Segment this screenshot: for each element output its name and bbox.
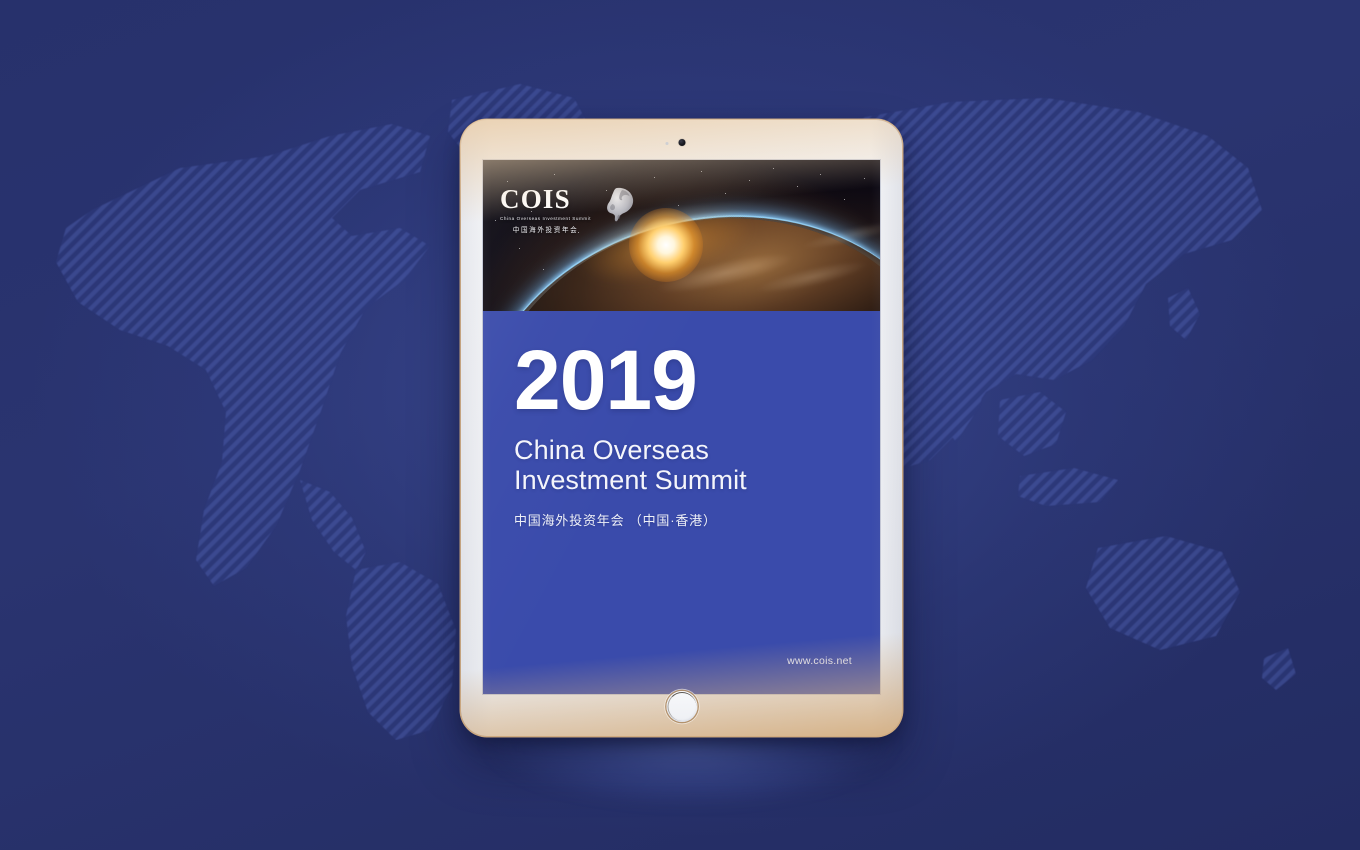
home-button[interactable]: [666, 691, 697, 722]
summit-title: China Overseas Investment Summit: [514, 435, 850, 496]
summit-title-line2: Investment Summit: [514, 465, 850, 496]
tablet-screen[interactable]: COIS China Overseas Investment Summit 中国…: [483, 160, 880, 694]
summit-subtitle-cn: 中国海外投资年会 （中国·香港）: [514, 510, 850, 529]
logo-subtitle-cn: 中国海外投资年会: [500, 224, 591, 234]
logo-wordmark: COIS: [500, 186, 591, 213]
hero-space-image: COIS China Overseas Investment Summit 中国…: [483, 160, 880, 311]
background-stage: COIS China Overseas Investment Summit 中国…: [0, 0, 1360, 850]
poster-panel: 2019 China Overseas Investment Summit 中国…: [483, 311, 880, 694]
cois-logo: COIS China Overseas Investment Summit 中国…: [500, 186, 638, 234]
ambient-sensor-icon: [665, 142, 668, 145]
asia-globe-icon: [598, 184, 638, 224]
tablet-device: COIS China Overseas Investment Summit 中国…: [461, 120, 902, 736]
year-heading: 2019: [514, 341, 850, 420]
logo-subtitle-en: China Overseas Investment Summit: [500, 216, 591, 221]
sun-glow-icon: [629, 208, 703, 282]
website-url[interactable]: www.cois.net: [787, 655, 852, 667]
front-camera-icon: [678, 139, 685, 146]
summit-title-line1: China Overseas: [514, 435, 850, 466]
